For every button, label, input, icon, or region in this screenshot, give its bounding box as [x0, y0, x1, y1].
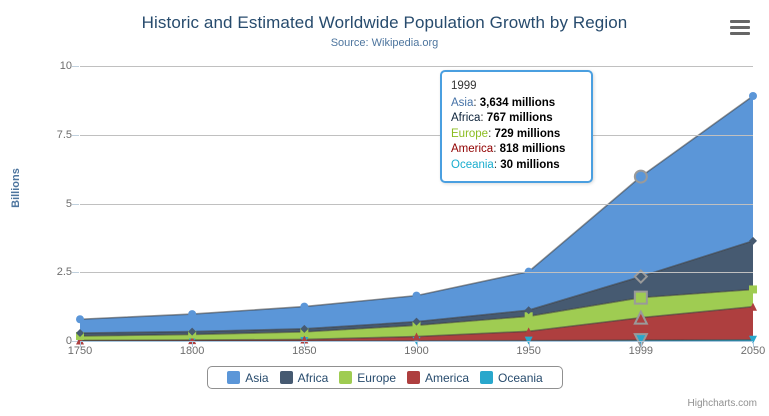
x-axis-tick-mark	[529, 342, 530, 347]
tooltip-rows: Asia: 3,634 millionsAfrica: 767 millions…	[451, 96, 582, 174]
y-axis-tick-mark	[72, 135, 79, 136]
x-axis-tick-mark	[80, 342, 81, 347]
tooltip-series-value: 3,634 millions	[480, 97, 555, 109]
point-marker-asia[interactable]	[749, 92, 757, 100]
legend-item-africa[interactable]: Africa	[280, 371, 329, 385]
tooltip: 1999 Asia: 3,634 millionsAfrica: 767 mil…	[440, 70, 593, 183]
tooltip-series-name: Asia	[451, 97, 473, 109]
hamburger-bar	[730, 20, 750, 23]
tooltip-series-name: Oceania	[451, 159, 494, 171]
x-axis-tick-mark	[192, 342, 193, 347]
tooltip-row: Europe: 729 millions	[451, 127, 582, 143]
credits-label[interactable]: Highcharts.com	[688, 398, 757, 409]
legend-label: America	[425, 371, 469, 385]
legend-label: Africa	[298, 371, 329, 385]
x-axis-tick-mark	[753, 342, 754, 347]
chart-title: Historic and Estimated Worldwide Populat…	[0, 13, 769, 33]
x-axis-tick-mark	[417, 342, 418, 347]
gridline	[80, 272, 753, 273]
legend-item-europe[interactable]: Europe	[339, 371, 396, 385]
tooltip-header: 1999	[451, 79, 582, 96]
tooltip-series-value: 30 millions	[500, 159, 559, 171]
tooltip-row: Oceania: 30 millions	[451, 158, 582, 174]
tooltip-row: Africa: 767 millions	[451, 111, 582, 127]
legend-item-oceania[interactable]: Oceania	[480, 371, 543, 385]
x-axis-tick-label: 2050	[713, 345, 769, 357]
point-marker-asia[interactable]	[188, 310, 196, 318]
y-axis-tick-mark	[72, 66, 79, 67]
point-marker-asia[interactable]	[413, 292, 421, 300]
gridline	[80, 66, 753, 67]
point-marker-asia[interactable]	[635, 171, 647, 183]
legend-swatch-icon	[280, 371, 293, 384]
y-axis-tick-label: 2.5	[8, 266, 72, 278]
hamburger-bar	[730, 32, 750, 35]
y-axis-tick-label: 5	[8, 198, 72, 210]
legend-label: Asia	[245, 371, 268, 385]
legend-item-america[interactable]: America	[407, 371, 469, 385]
y-axis-tick-label: 10	[8, 60, 72, 72]
hamburger-menu-icon[interactable]	[728, 17, 752, 39]
point-marker-asia[interactable]	[300, 303, 308, 311]
tooltip-series-name: Africa	[451, 112, 480, 124]
legend-swatch-icon	[339, 371, 352, 384]
x-axis-tick-mark	[641, 342, 642, 347]
legend-label: Europe	[357, 371, 396, 385]
point-marker-europe[interactable]	[635, 292, 647, 304]
tooltip-series-name: America	[451, 143, 493, 155]
legend-swatch-icon	[227, 371, 240, 384]
tooltip-series-value: 818 millions	[500, 143, 566, 155]
y-axis-tick-mark	[72, 272, 79, 273]
tooltip-row: America: 818 millions	[451, 142, 582, 158]
y-axis-ticks: 02.557.510	[0, 66, 72, 341]
legend-swatch-icon	[407, 371, 420, 384]
tooltip-row: Asia: 3,634 millions	[451, 96, 582, 112]
tooltip-series-value: 729 millions	[494, 128, 560, 140]
point-marker-europe[interactable]	[749, 285, 757, 293]
legend-item-asia[interactable]: Asia	[227, 371, 268, 385]
x-axis-tick-mark	[304, 342, 305, 347]
hamburger-bar	[730, 26, 750, 29]
y-axis-tick-mark	[72, 204, 79, 205]
legend-swatch-icon	[480, 371, 493, 384]
legend: AsiaAfricaEuropeAmericaOceania	[207, 366, 563, 389]
y-axis-tick-label: 7.5	[8, 129, 72, 141]
point-marker-asia[interactable]	[76, 315, 84, 323]
tooltip-series-value: 767 millions	[487, 112, 553, 124]
tooltip-series-name: Europe	[451, 128, 488, 140]
plot-area	[80, 66, 753, 341]
chart-subtitle: Source: Wikipedia.org	[0, 37, 769, 49]
legend-label: Oceania	[498, 371, 543, 385]
highcharts-container: Historic and Estimated Worldwide Populat…	[0, 0, 769, 416]
gridline	[80, 135, 753, 136]
gridline	[80, 204, 753, 205]
